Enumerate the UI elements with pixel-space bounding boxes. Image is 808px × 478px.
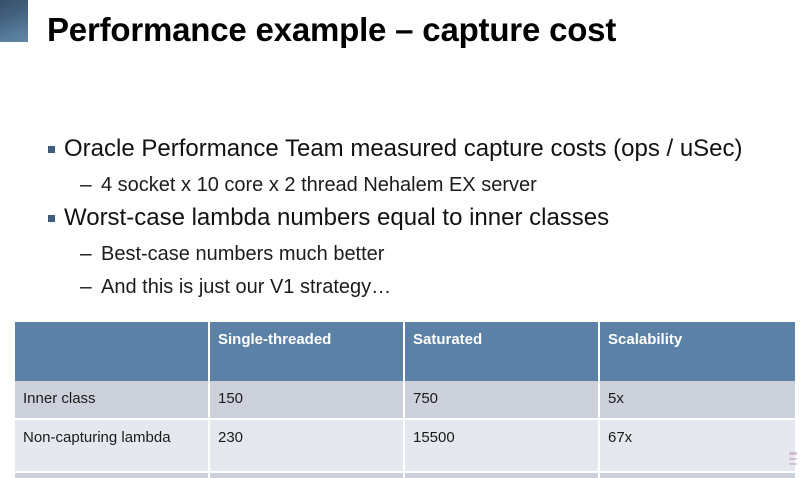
dash-bullet-icon: – bbox=[80, 272, 93, 302]
bullet-list: Oracle Performance Team measured capture… bbox=[48, 134, 788, 305]
column-header-metric bbox=[15, 322, 210, 381]
capture-cost-table: Single-threaded Saturated Scalability In… bbox=[15, 322, 795, 478]
cell-single-threaded: 150 bbox=[210, 381, 405, 420]
table-row: Inner class 150 750 5x bbox=[15, 381, 795, 420]
column-header-single-threaded: Single-threaded bbox=[210, 322, 405, 381]
slide-canvas: Performance example – capture cost Oracl… bbox=[0, 0, 808, 478]
column-header-saturated: Saturated bbox=[405, 322, 600, 381]
cell-single-threaded: 230 bbox=[210, 420, 405, 473]
list-item-label: Oracle Performance Team measured capture… bbox=[64, 134, 743, 164]
table-header-row: Single-threaded Saturated Scalability bbox=[15, 322, 795, 381]
square-bullet-icon bbox=[48, 146, 55, 153]
list-item: – And this is just our V1 strategy… bbox=[48, 272, 788, 305]
title-accent-block bbox=[0, 0, 28, 42]
cell-row-label: Non-capturing lambda bbox=[15, 420, 210, 473]
list-item-label: Worst-case lambda numbers equal to inner… bbox=[64, 203, 609, 233]
edge-artifact-mark bbox=[789, 452, 797, 470]
list-item: – Best-case numbers much better bbox=[48, 239, 788, 272]
cell-saturated: 750 bbox=[405, 381, 600, 420]
table-row: Non-capturing lambda 230 15500 67x bbox=[15, 420, 795, 473]
cell-saturated: 740 bbox=[405, 473, 600, 478]
list-item-label: And this is just our V1 strategy… bbox=[101, 272, 391, 302]
dash-bullet-icon: – bbox=[80, 170, 93, 200]
cell-scalability: 5x bbox=[600, 473, 795, 478]
page-title: Performance example – capture cost bbox=[47, 11, 616, 49]
list-item-label: Best-case numbers much better bbox=[101, 239, 384, 269]
list-item: Worst-case lambda numbers equal to inner… bbox=[48, 203, 788, 239]
cell-row-label: Inner class bbox=[15, 381, 210, 420]
column-header-scalability: Scalability bbox=[600, 322, 795, 381]
table-row: Capturing lambda 150 740 5x bbox=[15, 473, 795, 478]
cell-scalability: 67x bbox=[600, 420, 795, 473]
cell-saturated: 15500 bbox=[405, 420, 600, 473]
list-item: Oracle Performance Team measured capture… bbox=[48, 134, 788, 170]
dash-bullet-icon: – bbox=[80, 239, 93, 269]
cell-scalability: 5x bbox=[600, 381, 795, 420]
cell-single-threaded: 150 bbox=[210, 473, 405, 478]
cell-row-label: Capturing lambda bbox=[15, 473, 210, 478]
list-item: – 4 socket x 10 core x 2 thread Nehalem … bbox=[48, 170, 788, 203]
square-bullet-icon bbox=[48, 215, 55, 222]
list-item-label: 4 socket x 10 core x 2 thread Nehalem EX… bbox=[101, 170, 537, 200]
